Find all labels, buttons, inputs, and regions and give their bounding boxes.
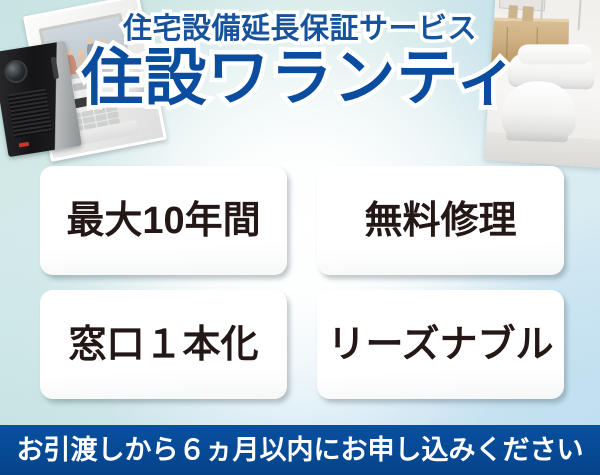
feature-box-max-10-years[interactable]: 最大10年間 [40,166,287,275]
feature-label: 無料修理 [364,202,516,240]
cta-text: お引渡しから６ヵ月以内にお申し込みください [17,437,584,464]
headings-group: 住宅設備延長保証サービス 住設ワランティ [0,14,600,110]
toilet-base [506,128,568,142]
cta-banner[interactable]: お引渡しから６ヵ月以内にお申し込みください [0,425,600,475]
feature-label: 窓口１本化 [68,326,258,364]
promotional-banner: 住宅設備延長保証サービス 住設ワランティ 最大10年間 無料修理 窓口１本化 リ… [0,0,600,475]
feature-box-grid: 最大10年間 無料修理 窓口１本化 リーズナブル [40,166,564,399]
banner-subtitle: 住宅設備延長保証サービス [0,14,600,45]
feature-label: 最大10年間 [66,202,260,240]
banner-title: 住設ワランティ [0,47,600,110]
feature-box-single-contact[interactable]: 窓口１本化 [40,290,287,399]
feature-label: リーズナブル [327,326,553,364]
feature-box-reasonable[interactable]: リーズナブル [317,290,564,399]
feature-box-free-repair[interactable]: 無料修理 [317,166,564,275]
door-station-indicator [19,142,30,148]
